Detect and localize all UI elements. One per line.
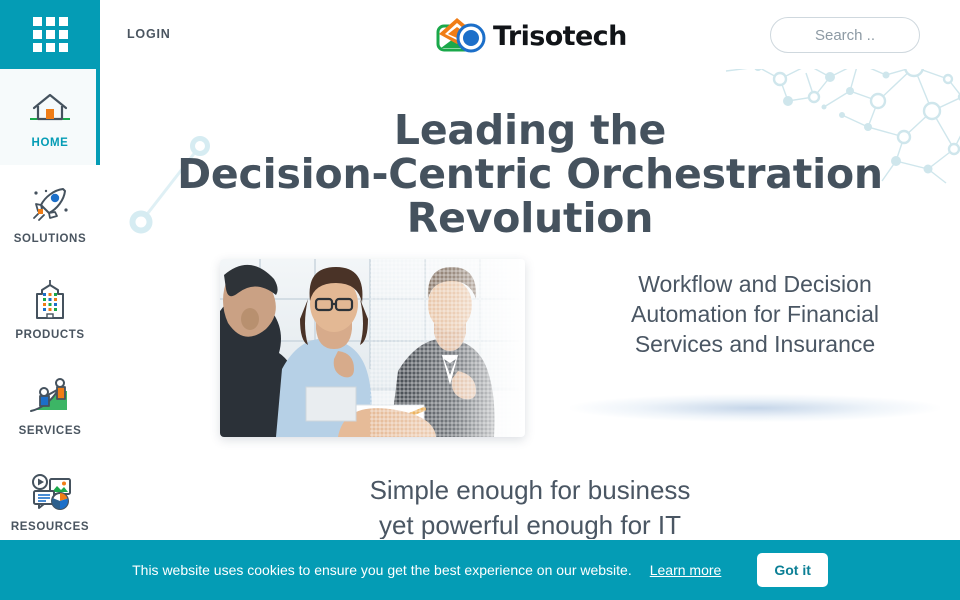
- hero-subtitle-line-3: Services and Insurance: [635, 331, 875, 357]
- top-header: LOGIN Trisotech: [100, 0, 960, 69]
- sidebar: HOME: [0, 0, 100, 600]
- hero-title-line-1: Leading the: [394, 106, 666, 154]
- sidebar-item-label: HOME: [32, 137, 69, 149]
- trisotech-envelope-logo: [436, 14, 486, 59]
- sidebar-item-label: SERVICES: [19, 425, 82, 437]
- hero-title-line-3: Revolution: [407, 194, 654, 242]
- sidebar-item-label: PRODUCTS: [15, 329, 84, 341]
- hero-section: Leading the Decision-Centric Orchestrati…: [100, 69, 960, 539]
- sidebar-item-products[interactable]: PRODUCTS: [0, 261, 100, 357]
- sidebar-item-solutions[interactable]: SOLUTIONS: [0, 165, 100, 261]
- login-link[interactable]: LOGIN: [127, 27, 171, 41]
- brand-logo[interactable]: Trisotech: [436, 14, 627, 59]
- hero-tagline: Simple enough for business yet powerful …: [100, 473, 960, 539]
- cookie-message: This website uses cookies to ensure you …: [132, 562, 632, 578]
- sidebar-item-home[interactable]: HOME: [0, 69, 100, 165]
- sidebar-item-label: RESOURCES: [11, 521, 89, 533]
- hero-image: [220, 259, 525, 437]
- hero-subtitle: Workflow and Decision Automation for Fin…: [555, 269, 955, 359]
- cookie-learn-more-link[interactable]: Learn more: [650, 562, 722, 578]
- cookie-banner: This website uses cookies to ensure you …: [0, 540, 960, 600]
- hero-tagline-line-2: yet powerful enough for IT: [379, 510, 681, 539]
- hero-title-line-2: Decision-Centric Orchestration: [177, 150, 883, 198]
- subtitle-shadow-decoration: [570, 394, 940, 422]
- cookie-accept-button[interactable]: Got it: [757, 553, 828, 587]
- house-icon: [28, 85, 72, 131]
- building-icon: [30, 277, 70, 323]
- hero-tagline-line-1: Simple enough for business: [370, 475, 691, 505]
- sidebar-item-services[interactable]: SERVICES: [0, 357, 100, 453]
- search-box[interactable]: [770, 17, 920, 53]
- hero-subtitle-line-1: Workflow and Decision: [638, 271, 872, 297]
- sidebar-nav: HOME: [0, 69, 100, 549]
- hero-subtitle-line-2: Automation for Financial: [631, 301, 879, 327]
- grid-menu-button[interactable]: [0, 0, 100, 69]
- helping-hand-icon: [27, 373, 73, 419]
- media-library-icon: [26, 469, 74, 515]
- brand-name: Trisotech: [493, 21, 627, 52]
- sidebar-item-label: SOLUTIONS: [14, 233, 87, 245]
- search-input[interactable]: [785, 27, 905, 44]
- grid-menu-icon: [33, 17, 68, 52]
- page-title: Leading the Decision-Centric Orchestrati…: [100, 108, 960, 240]
- rocket-icon: [27, 181, 73, 227]
- sidebar-item-resources[interactable]: RESOURCES: [0, 453, 100, 549]
- page-root: HOME: [0, 0, 960, 600]
